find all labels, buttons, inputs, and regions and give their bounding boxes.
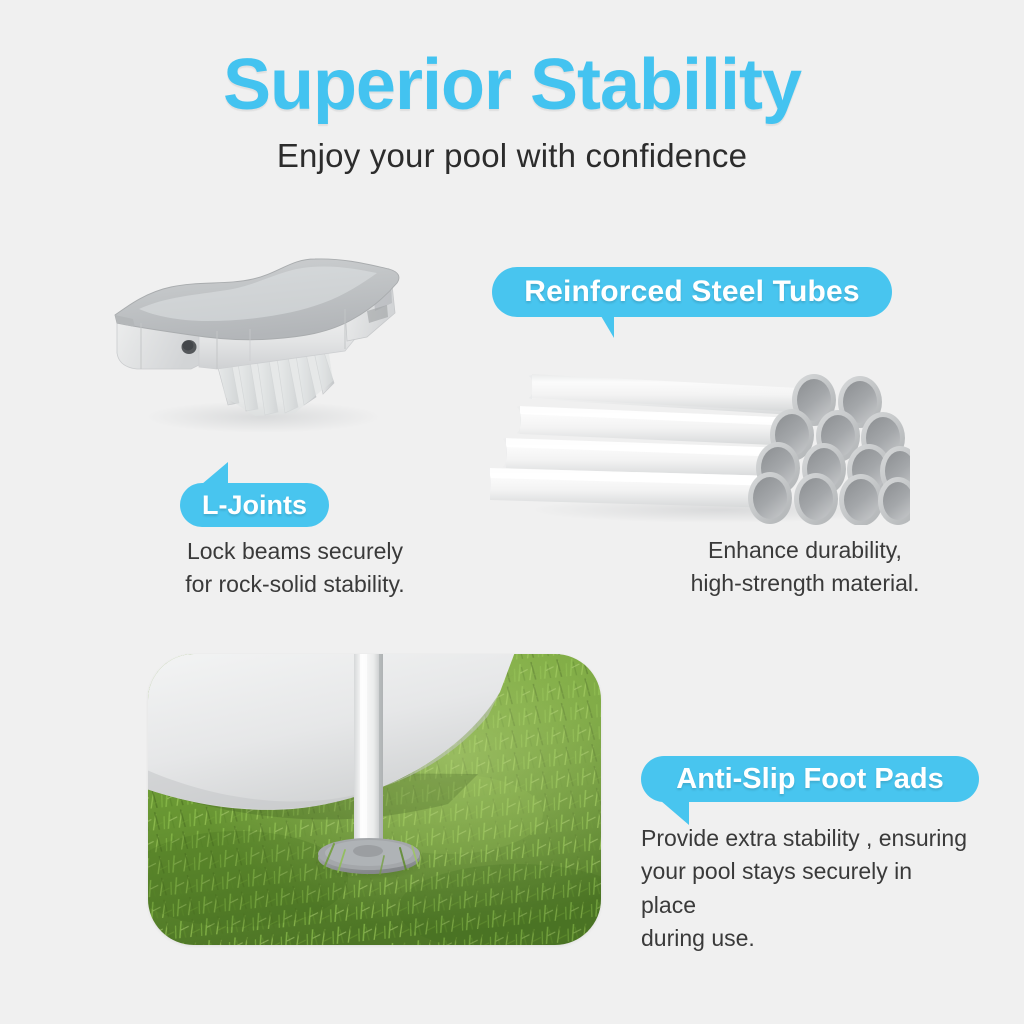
badge-l-joints-label: L-Joints	[202, 490, 307, 521]
caption-line: high-strength material.	[640, 567, 970, 600]
badge-l-joints: L-Joints	[180, 483, 329, 527]
badge-tubes-tail	[590, 316, 614, 338]
caption-anti-slip-foot-pads: Provide extra stability , ensuring your …	[641, 822, 971, 955]
badge-anti-slip-foot-pads-label: Anti-Slip Foot Pads	[676, 763, 943, 796]
caption-line: Provide extra stability , ensuring	[641, 822, 971, 855]
page-subtitle: Enjoy your pool with confidence	[0, 137, 1024, 175]
caption-reinforced-steel-tubes: Enhance durability, high-strength materi…	[640, 534, 970, 599]
l-joint-connector-photo	[95, 245, 425, 435]
caption-l-joints: Lock beams securely for rock-solid stabi…	[120, 535, 470, 600]
steel-tubes-stack-photo	[480, 350, 910, 525]
page-title: Superior Stability	[0, 48, 1024, 124]
caption-line: during use.	[641, 922, 971, 955]
pool-leg-on-grass-photo	[148, 654, 601, 945]
caption-line: Lock beams securely	[120, 535, 470, 568]
infographic-page: Superior Stability Enjoy your pool with …	[0, 0, 1024, 1024]
badge-l-joints-tail	[190, 462, 228, 484]
badge-anti-slip-foot-pads: Anti-Slip Foot Pads	[641, 756, 979, 802]
caption-line: for rock-solid stability.	[120, 568, 470, 601]
badge-tubes-label: Reinforced Steel Tubes	[524, 275, 860, 309]
badge-reinforced-steel-tubes: Reinforced Steel Tubes	[492, 267, 892, 317]
caption-line: your pool stays securely in place	[641, 855, 971, 922]
caption-line: Enhance durability,	[640, 534, 970, 567]
